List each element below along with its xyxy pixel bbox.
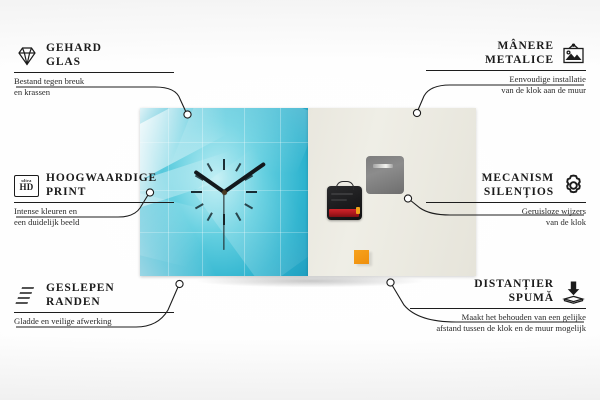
divider [410, 308, 586, 309]
feature-title: GEHARD [46, 42, 102, 56]
minute-hand [223, 162, 266, 194]
divider [14, 72, 174, 73]
divider [14, 312, 174, 313]
feature-title: MECANISM [482, 172, 554, 186]
feature-title-2: SILENȚIOS [482, 186, 554, 200]
hanger-loop [336, 181, 354, 190]
bevelled-edges-icon [14, 283, 39, 308]
feature-subtitle: Eenvoudige installatie [426, 74, 586, 85]
feature-subtitle: Intense kleuren en [14, 206, 174, 217]
feature-geslepen-randen[interactable]: GESLEPEN RANDEN Gladde en veilige afwerk… [14, 282, 174, 327]
divider [426, 202, 586, 203]
foam-spacer [354, 250, 369, 264]
feature-subtitle: Bestand tegen breuk [14, 76, 174, 87]
diamond-icon [14, 43, 39, 68]
feature-title-2: GLAS [46, 56, 102, 70]
feature-title: DISTANȚIER [474, 278, 554, 292]
feature-subtitle-2: van de klok aan de muur [426, 85, 586, 96]
feature-manere-metalice[interactable]: MÂNERE METALICE Eenvoudige installatie v… [426, 40, 586, 96]
hands-cap [222, 190, 227, 195]
battery [329, 209, 359, 217]
feature-subtitle: Geruisloze wijzers [426, 206, 586, 217]
feature-subtitle-2: een duidelijk beeld [14, 217, 174, 228]
feature-title-2: RANDEN [46, 296, 115, 310]
infographic-canvas: GEHARD GLAS Bestand tegen breuk en krass… [0, 0, 600, 400]
feature-subtitle-2: en krassen [14, 87, 174, 98]
feature-hoogwaardige-print[interactable]: ultra HD HOOGWAARDIGE PRINT Intense kleu… [14, 172, 174, 228]
feature-distantier-spuma[interactable]: DISTANȚIER SPUMĂ Maakt het behouden van … [410, 278, 586, 334]
ultra-hd-bottom-label: HD [20, 183, 34, 192]
ultra-hd-icon: ultra HD [14, 173, 39, 198]
feature-subtitle-2: van de klok [426, 217, 586, 228]
quartz-mechanism [327, 186, 362, 220]
gear-icon [561, 173, 586, 198]
metal-hanger [366, 156, 404, 194]
feature-title-2: SPUMĂ [474, 292, 554, 306]
feature-gehard-glas[interactable]: GEHARD GLAS Bestand tegen breuk en krass… [14, 42, 174, 98]
feature-title: GESLEPEN [46, 282, 115, 296]
spacer-arrow-icon [561, 279, 586, 304]
feature-subtitle: Gladde en veilige afwerking [14, 316, 174, 327]
picture-frame-icon [561, 41, 586, 66]
feature-subtitle-2: afstand tussen de klok en de muur mogeli… [410, 323, 586, 334]
feature-subtitle: Maakt het behouden van een gelijke [410, 312, 586, 323]
feature-title: MÂNERE [485, 40, 554, 54]
divider [14, 202, 174, 203]
feature-title: HOOGWAARDIGE [46, 172, 157, 186]
feature-mecanism-silentios[interactable]: MECANISM SILENȚIOS Geruisloze wijzers va… [426, 172, 586, 228]
divider [426, 70, 586, 71]
feature-title-2: PRINT [46, 186, 157, 200]
feature-title-2: METALICE [485, 54, 554, 68]
